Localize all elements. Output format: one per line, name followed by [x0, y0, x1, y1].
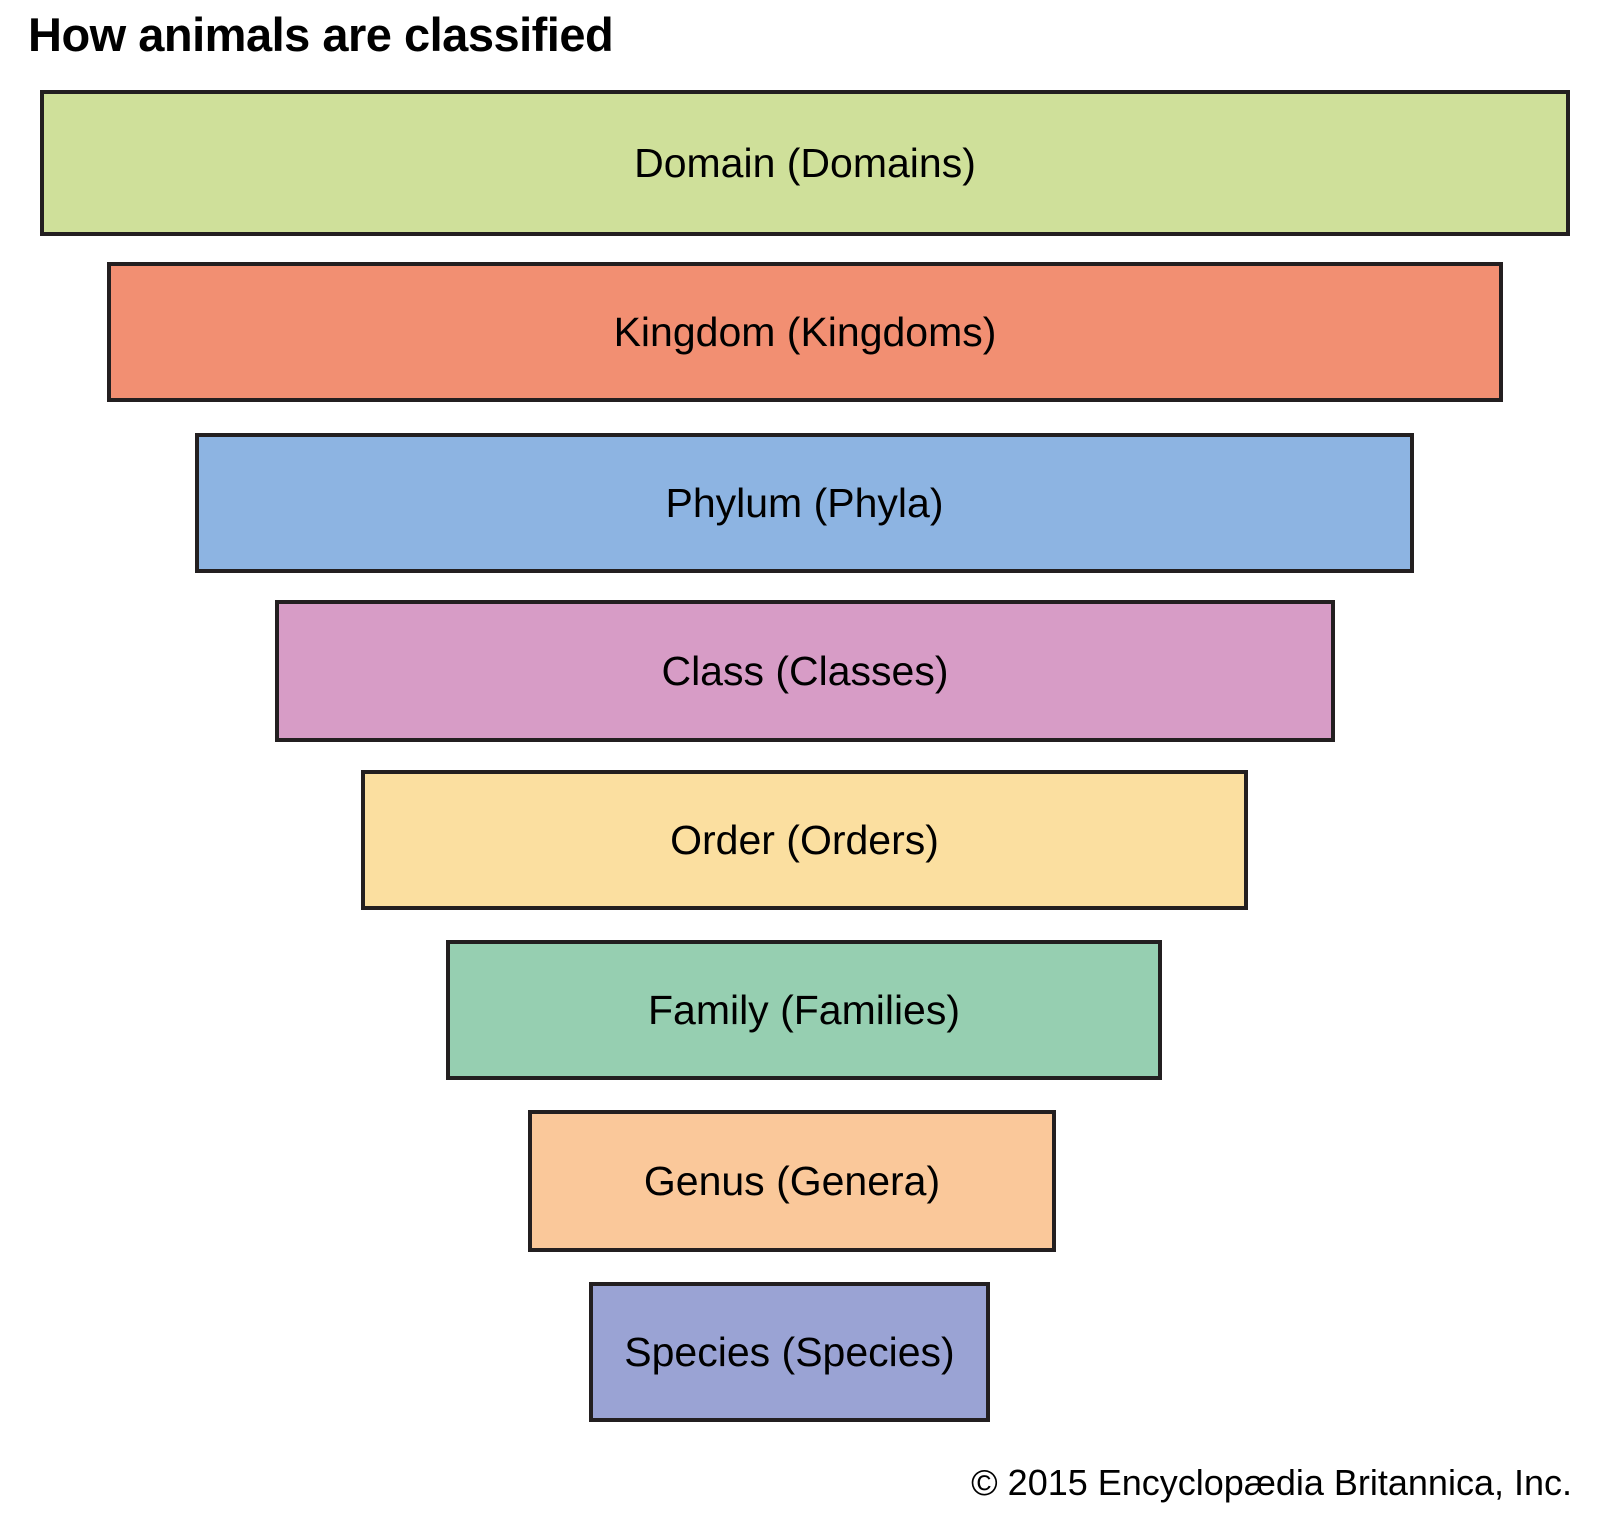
taxon-bar-domain: Domain (Domains) [40, 90, 1570, 236]
taxon-bar-family: Family (Families) [446, 940, 1162, 1080]
taxon-label-kingdom: Kingdom (Kingdoms) [614, 309, 997, 356]
taxon-label-family: Family (Families) [648, 987, 960, 1034]
taxon-label-genus: Genus (Genera) [644, 1158, 940, 1205]
taxon-bar-phylum: Phylum (Phyla) [195, 433, 1414, 573]
taxon-bar-order: Order (Orders) [361, 770, 1248, 910]
taxon-label-phylum: Phylum (Phyla) [666, 480, 944, 527]
taxon-label-class: Class (Classes) [661, 648, 948, 695]
taxon-bar-species: Species (Species) [589, 1282, 990, 1422]
taxon-bar-kingdom: Kingdom (Kingdoms) [107, 262, 1503, 402]
taxon-label-species: Species (Species) [624, 1329, 954, 1376]
taxon-bar-class: Class (Classes) [275, 600, 1335, 742]
taxon-label-domain: Domain (Domains) [634, 140, 976, 187]
taxon-bar-genus: Genus (Genera) [528, 1110, 1056, 1252]
diagram-canvas: How animals are classified Domain (Domai… [0, 0, 1600, 1524]
taxon-label-order: Order (Orders) [670, 817, 939, 864]
copyright-notice: © 2015 Encyclopædia Britannica, Inc. [971, 1462, 1572, 1504]
page-title: How animals are classified [28, 10, 613, 59]
